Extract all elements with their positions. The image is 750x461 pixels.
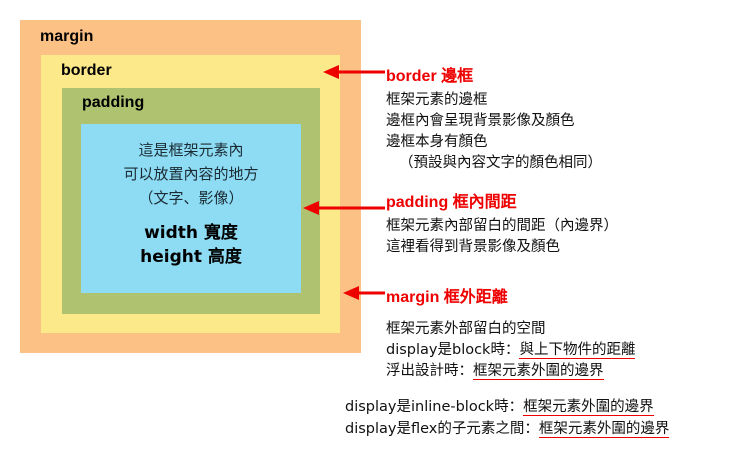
arrow-to-padding-icon bbox=[303, 200, 385, 216]
content-box: 這是框架元素內 可以放置內容的地方 （文字、影像） width 寬度 heigh… bbox=[81, 124, 301, 293]
footer-notes: display是inline-block時：框架元素外圍的邊界 display是… bbox=[345, 396, 669, 440]
annotation-margin-line-2: display是block時：與上下物件的距離 bbox=[386, 340, 635, 361]
content-height-line: height 高度 bbox=[81, 245, 301, 269]
footer-line-1-emphasis: 框架元素外圍的邊界 bbox=[523, 399, 654, 416]
annotation-padding-body: 框架元素內部留白的間距（內邊界） 這裡看得到背景影像及顏色 bbox=[386, 216, 618, 258]
footer-line-1: display是inline-block時：框架元素外圍的邊界 bbox=[345, 396, 669, 418]
annotation-margin-line-1: 框架元素外部留白的空間 bbox=[386, 319, 635, 340]
arrow-to-border-icon bbox=[323, 64, 385, 80]
footer-line-2-prefix: display是flex的子元素之間： bbox=[345, 421, 539, 437]
annotation-padding: padding 框內間距 框架元素內部留白的間距（內邊界） 這裡看得到背景影像及… bbox=[386, 188, 618, 258]
content-line-3: （文字、影像） bbox=[81, 186, 301, 210]
annotation-border-title: border 邊框 bbox=[386, 62, 602, 86]
annotation-margin-line-2-emphasis: 與上下物件的距離 bbox=[519, 342, 635, 359]
margin-box: margin border padding 這是框架元素內 可以放置內容的地方 … bbox=[20, 20, 361, 353]
margin-box-label: margin bbox=[40, 28, 93, 46]
border-box: border padding 這是框架元素內 可以放置內容的地方 （文字、影像）… bbox=[41, 55, 340, 333]
annotation-margin: margin 框外距離 框架元素外部留白的空間 display是block時：與… bbox=[386, 283, 635, 382]
content-line-2: 可以放置內容的地方 bbox=[81, 162, 301, 186]
padding-box: padding 這是框架元素內 可以放置內容的地方 （文字、影像） width … bbox=[62, 88, 320, 314]
annotation-border: border 邊框 框架元素的邊框 邊框內會呈現背景影像及顏色 邊框本身有顏色 … bbox=[386, 62, 602, 174]
annotation-padding-line-1: 框架元素內部留白的間距（內邊界） bbox=[386, 216, 618, 237]
footer-line-2: display是flex的子元素之間：框架元素外圍的邊界 bbox=[345, 418, 669, 440]
annotation-margin-line-3: 浮出設計時：框架元素外圍的邊界 bbox=[386, 361, 635, 382]
box-model-diagram: margin border padding 這是框架元素內 可以放置內容的地方 … bbox=[0, 0, 750, 461]
annotation-border-line-3: 邊框本身有顏色 bbox=[386, 132, 602, 153]
annotation-margin-line-3-prefix: 浮出設計時： bbox=[386, 363, 473, 379]
annotation-padding-title: padding 框內間距 bbox=[386, 188, 618, 212]
annotation-border-line-1: 框架元素的邊框 bbox=[386, 90, 602, 111]
annotation-margin-title: margin 框外距離 bbox=[386, 283, 635, 307]
annotation-border-body: 框架元素的邊框 邊框內會呈現背景影像及顏色 邊框本身有顏色 （預設與內容文字的顏… bbox=[386, 90, 602, 174]
footer-line-1-prefix: display是inline-block時： bbox=[345, 399, 523, 415]
content-width-line: width 寬度 bbox=[81, 221, 301, 245]
footer-line-2-emphasis: 框架元素外圍的邊界 bbox=[539, 421, 670, 438]
annotation-margin-line-3-emphasis: 框架元素外圍的邊界 bbox=[473, 363, 604, 380]
content-line-1: 這是框架元素內 bbox=[81, 138, 301, 162]
annotation-border-line-2: 邊框內會呈現背景影像及顏色 bbox=[386, 111, 602, 132]
content-box-text: 這是框架元素內 可以放置內容的地方 （文字、影像） width 寬度 heigh… bbox=[81, 138, 301, 269]
border-box-label: border bbox=[61, 62, 112, 80]
annotation-border-line-4: （預設與內容文字的顏色相同） bbox=[386, 153, 602, 174]
annotation-margin-body: 框架元素外部留白的空間 display是block時：與上下物件的距離 浮出設計… bbox=[386, 319, 635, 382]
padding-box-label: padding bbox=[82, 94, 144, 112]
arrow-to-margin-icon bbox=[343, 285, 385, 301]
annotation-padding-line-2: 這裡看得到背景影像及顏色 bbox=[386, 237, 618, 258]
annotation-margin-line-2-prefix: display是block時： bbox=[386, 342, 519, 358]
